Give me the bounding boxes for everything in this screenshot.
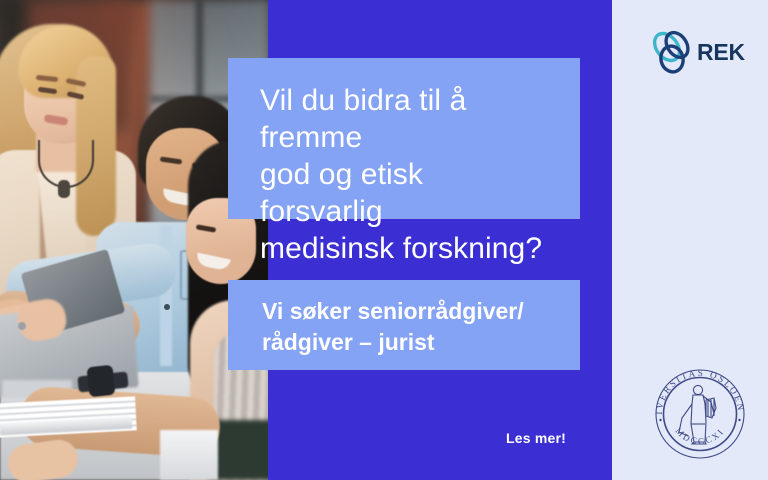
role-box: Vi søker seniorrådgiver/ rådgiver – juri… <box>228 280 580 370</box>
headline-box: Vil du bidra til å fremme god og etisk f… <box>228 58 580 219</box>
svg-text:MDCCCXI: MDCCCXI <box>673 426 726 447</box>
seal-bottom-text: MDCCCXI <box>673 426 726 447</box>
read-more-link[interactable]: Les mer! <box>506 430 566 446</box>
rek-interlocking-loops-icon <box>650 29 694 75</box>
university-of-oslo-seal-icon: UNIVERSITAS OSLOENSIS MDCCCXI <box>648 362 752 466</box>
job-advert-banner: Vil du bidra til å fremme god og etisk f… <box>0 0 768 480</box>
role-text: Vi søker seniorrådgiver/ rådgiver – juri… <box>262 296 560 358</box>
rek-wordmark: REK <box>697 41 745 64</box>
rek-logo[interactable]: REK <box>650 28 746 76</box>
headline-text: Vil du bidra til å fremme god og etisk f… <box>260 82 554 267</box>
